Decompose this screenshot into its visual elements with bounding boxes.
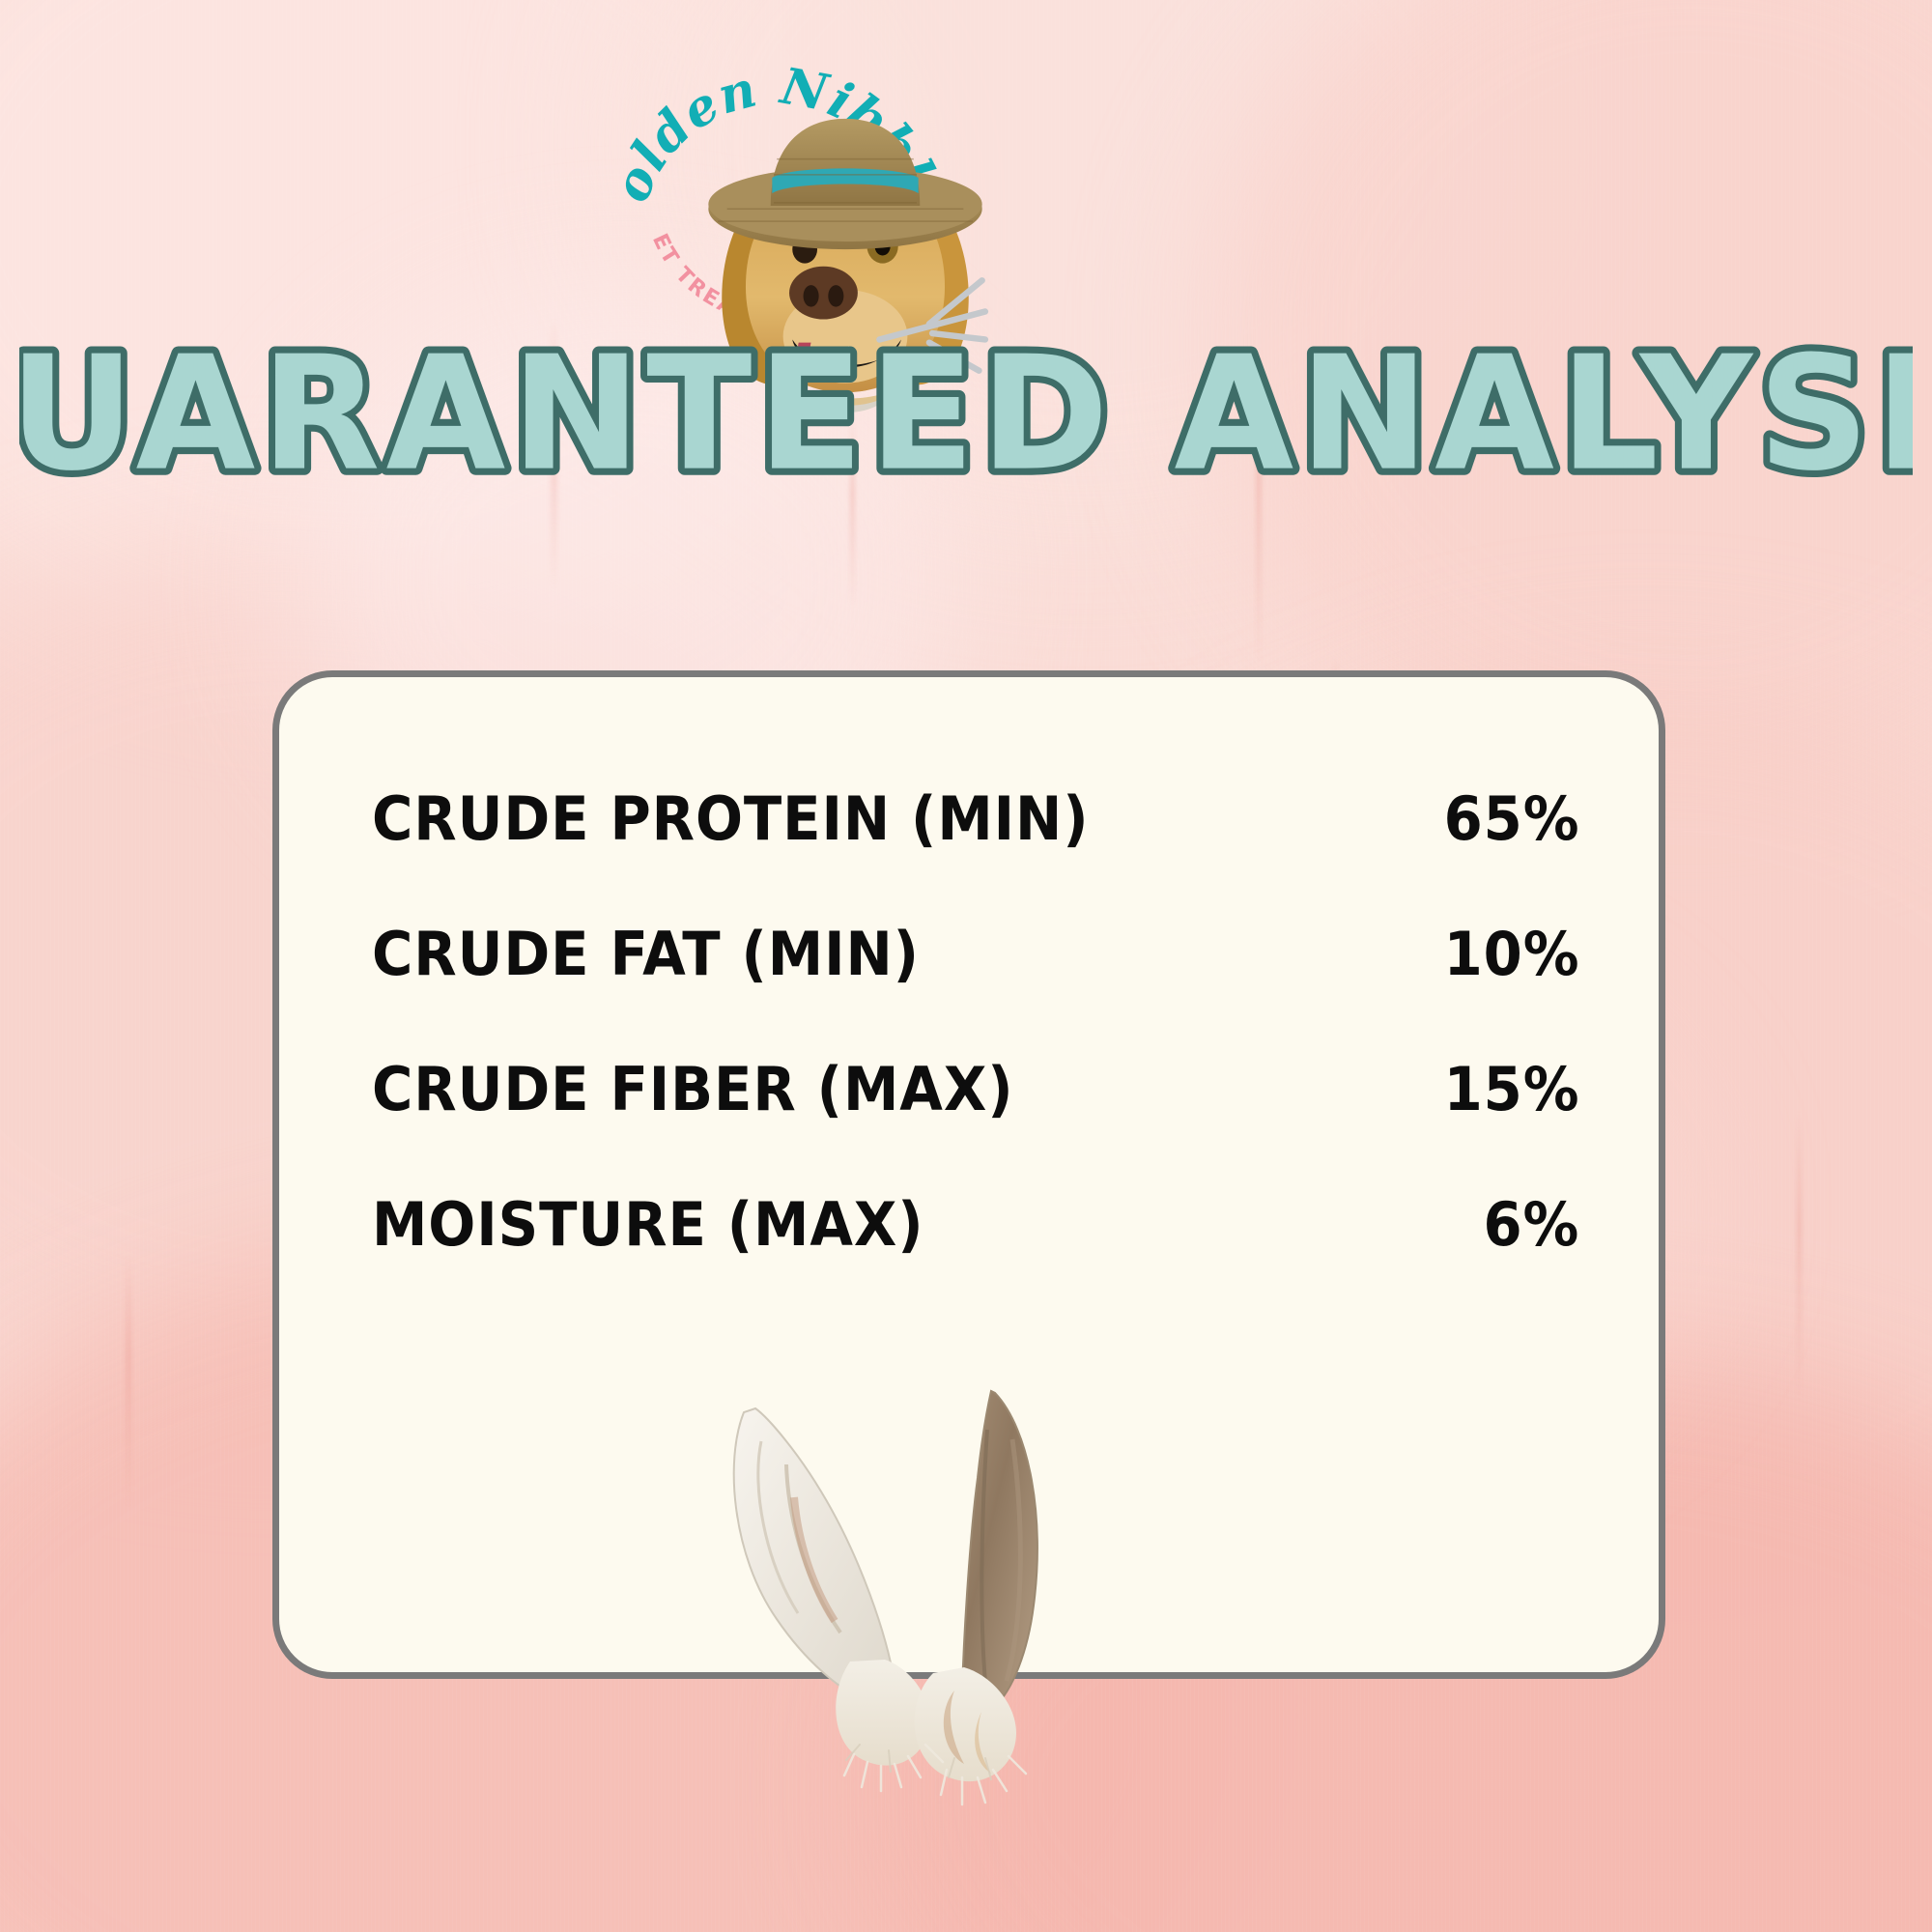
- page-title: GUARANTEED ANALYSIS: [0, 340, 1932, 495]
- page-title-text: GUARANTEED ANALYSIS: [19, 340, 1913, 495]
- table-row: CRUDE FAT (MIN) 10%: [372, 919, 1579, 1054]
- paper-streak: [126, 1256, 131, 1507]
- row-label: CRUDE FAT (MIN): [372, 919, 920, 989]
- right-ear-base-fluff: [915, 1667, 1016, 1781]
- table-row: CRUDE PROTEIN (MIN) 65%: [372, 783, 1579, 919]
- paper-streak: [1797, 1111, 1802, 1401]
- row-value: 15%: [1443, 1054, 1579, 1124]
- row-label: CRUDE PROTEIN (MIN): [372, 783, 1090, 854]
- brand-logo: Golden Nibbles PET TREATS & RAW FOOD: [618, 37, 937, 355]
- row-value: 6%: [1483, 1189, 1579, 1260]
- row-label: CRUDE FIBER (MAX): [372, 1054, 1013, 1124]
- table-row: MOISTURE (MAX) 6%: [372, 1189, 1579, 1324]
- poster-canvas: Golden Nibbles PET TREATS & RAW FOOD: [0, 0, 1932, 1932]
- table-row: CRUDE FIBER (MAX) 15%: [372, 1054, 1579, 1189]
- row-value: 10%: [1443, 919, 1579, 989]
- analysis-table: CRUDE PROTEIN (MIN) 65% CRUDE FAT (MIN) …: [372, 783, 1579, 1324]
- guaranteed-analysis-card: CRUDE PROTEIN (MIN) 65% CRUDE FAT (MIN) …: [272, 670, 1665, 1679]
- row-label: MOISTURE (MAX): [372, 1189, 924, 1260]
- row-value: 65%: [1443, 783, 1579, 854]
